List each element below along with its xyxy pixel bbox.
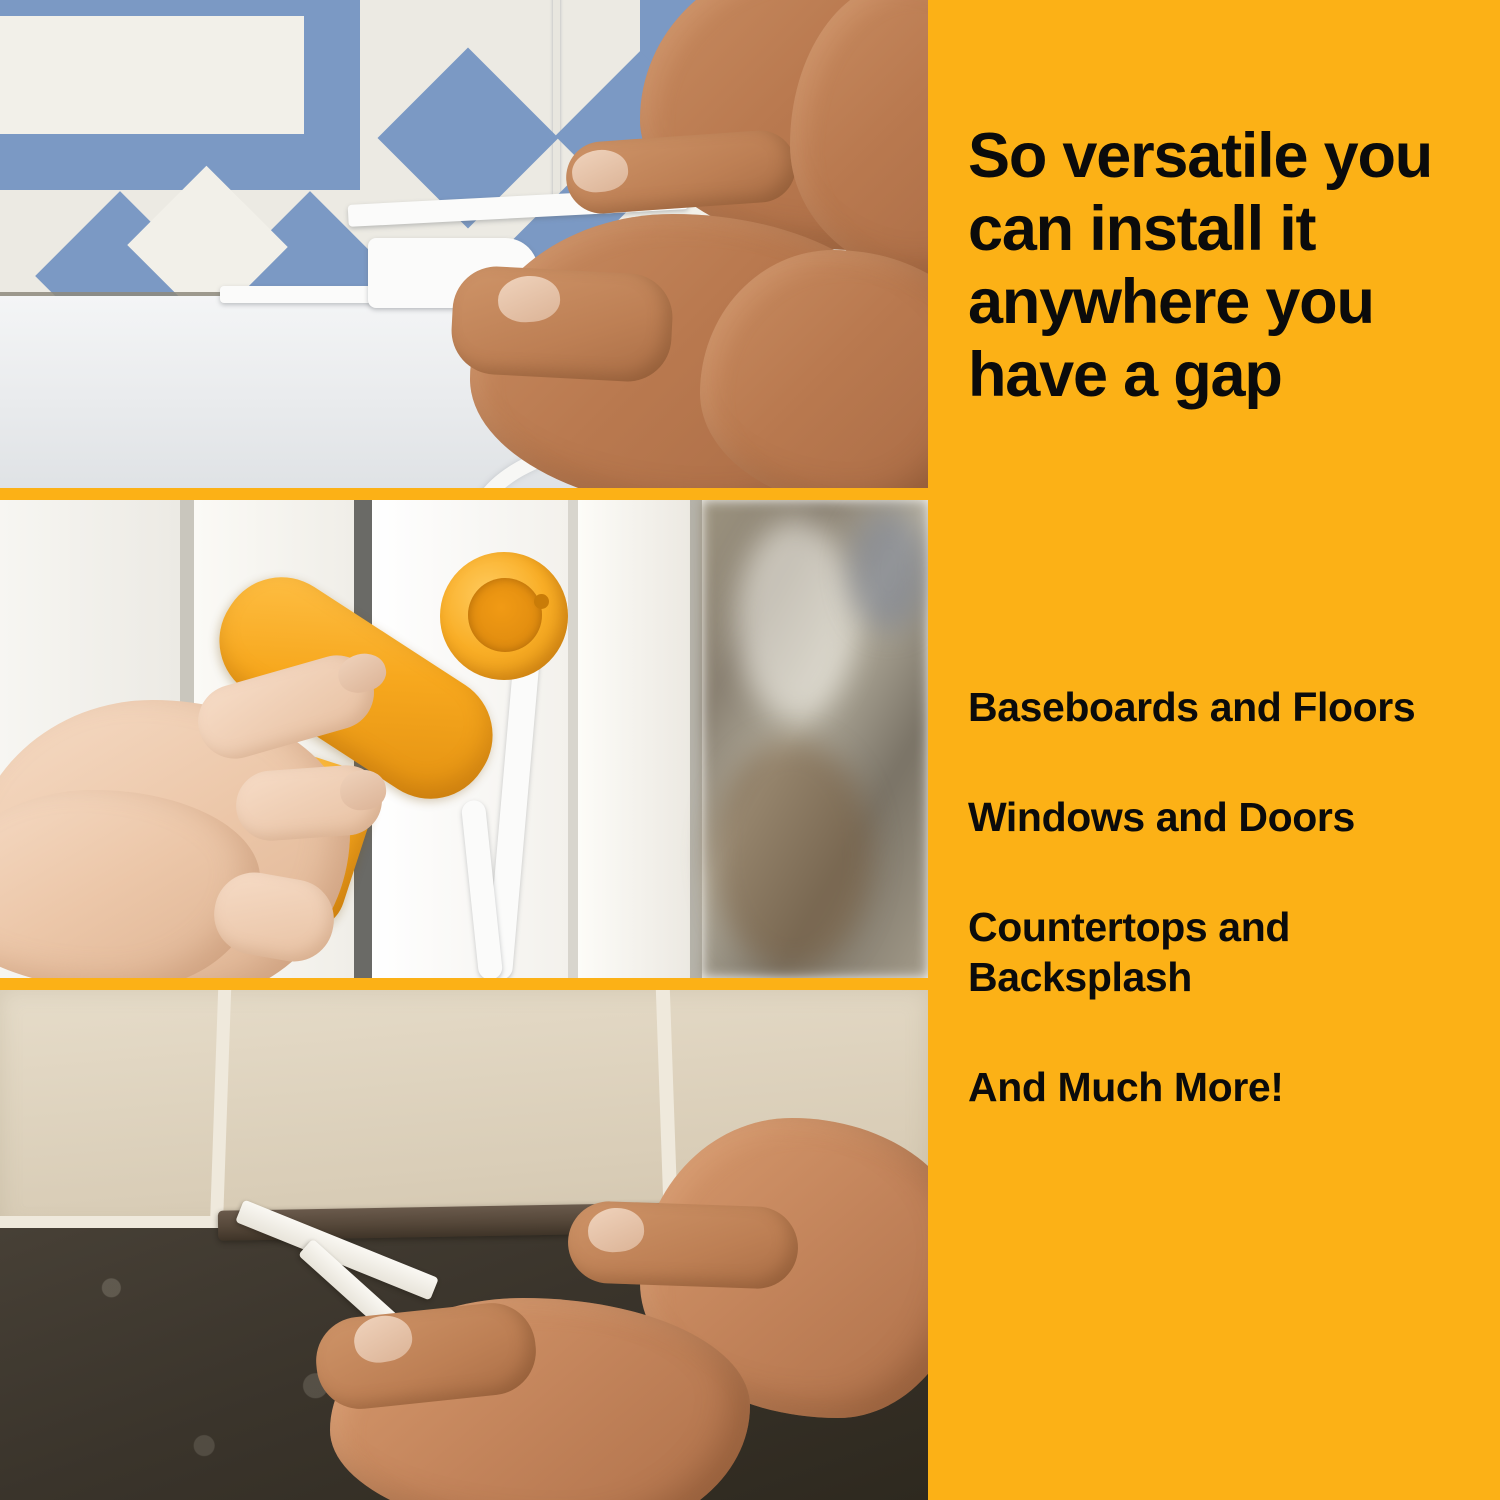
- photo-divider-bottom: [0, 978, 928, 990]
- benefit-list: Baseboards and Floors Windows and Doors …: [968, 682, 1488, 1112]
- frame-groove: [568, 500, 578, 978]
- photo-divider-top: [0, 488, 928, 500]
- applicator-tool-nozzle: [468, 578, 542, 652]
- list-item: Countertops and Backsplash: [968, 902, 1488, 1002]
- tile-motif: [0, 134, 360, 190]
- list-item: Baseboards and Floors: [968, 682, 1488, 732]
- list-item: Windows and Doors: [968, 792, 1488, 842]
- glass-reflection: [736, 520, 856, 720]
- photo-column: [0, 0, 928, 1500]
- glass-reflection: [712, 740, 872, 970]
- tile-motif: [0, 16, 304, 134]
- finger-thumb: [449, 264, 674, 383]
- list-item: And Much More!: [968, 1062, 1488, 1112]
- frame-groove: [690, 500, 702, 978]
- photo-countertop: [0, 990, 928, 1500]
- glass-reflection: [850, 510, 928, 630]
- photo-tile-backsplash: [0, 0, 928, 492]
- product-feature-panel: So versatile you can install it anywhere…: [0, 0, 1500, 1500]
- photo-window-frame: [0, 500, 928, 978]
- page-title: So versatile you can install it anywhere…: [968, 120, 1480, 412]
- text-panel: So versatile you can install it anywhere…: [928, 0, 1500, 1500]
- frame-board: [578, 500, 690, 978]
- applicator-tool-vent: [534, 594, 549, 609]
